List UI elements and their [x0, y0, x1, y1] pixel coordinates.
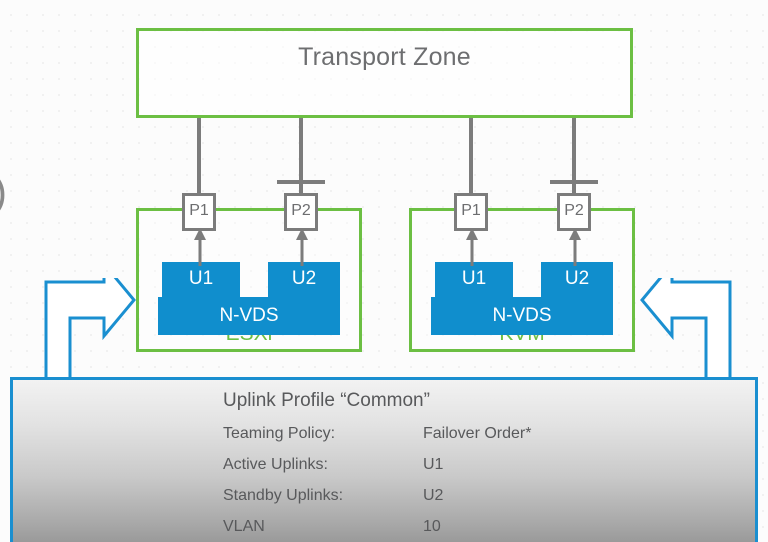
- nvds-label-kvm: N-VDS: [431, 305, 613, 327]
- nvds-uplink-tab-esxi-u1[interactable]: U1: [162, 262, 240, 298]
- port-box-esxi-p1[interactable]: P1: [182, 193, 216, 231]
- port-box-esxi-p2[interactable]: P2: [284, 193, 318, 231]
- drop-line-kvm-p1: [469, 118, 473, 200]
- nvds-esxi[interactable]: N-VDS U1 U2: [158, 262, 340, 335]
- right-callout-arrow: [638, 278, 734, 380]
- nvds-uplink-label-esxi-u1: U1: [162, 268, 240, 290]
- uplink-profile-panel[interactable]: Uplink Profile “Common” Teaming Policy: …: [10, 377, 758, 542]
- diagram-canvas: ) Transport Zone ESXi P1 P2 N-VDS U1 U2: [0, 0, 768, 542]
- nvds-uplink-label-kvm-u1: U1: [435, 268, 513, 290]
- row-value-teaming-policy: Failover Order*: [423, 425, 531, 443]
- port-label-kvm-p1: P1: [457, 202, 485, 220]
- nvds-uplink-tab-kvm-u1[interactable]: U1: [435, 262, 513, 298]
- row-key-active-uplinks: Active Uplinks:: [223, 456, 328, 474]
- row-value-standby-uplinks: U2: [423, 487, 443, 505]
- nvds-uplink-label-esxi-u2: U2: [268, 268, 340, 290]
- row-key-vlan: VLAN: [223, 518, 265, 536]
- nvds-label-esxi: N-VDS: [158, 305, 340, 327]
- drop-line-esxi-p1: [197, 118, 201, 200]
- link-break-bar-kvm-p2: [550, 180, 598, 184]
- drop-line-esxi-p2: [299, 118, 303, 200]
- row-key-teaming-policy: Teaming Policy:: [223, 425, 335, 443]
- port-label-esxi-p1: P1: [185, 202, 213, 220]
- port-box-kvm-p1[interactable]: P1: [454, 193, 488, 231]
- nvds-uplink-tab-esxi-u2[interactable]: U2: [268, 262, 340, 298]
- nvds-uplink-label-kvm-u2: U2: [541, 268, 613, 290]
- port-label-esxi-p2: P2: [287, 202, 315, 220]
- link-break-bar-esxi-p2: [277, 180, 325, 184]
- uplink-arrow-esxi-u1: [192, 228, 208, 266]
- nvds-kvm[interactable]: N-VDS U1 U2: [431, 262, 613, 335]
- row-value-active-uplinks: U1: [423, 456, 443, 474]
- stray-parenthesis-glyph: ): [0, 168, 7, 216]
- row-key-standby-uplinks: Standby Uplinks:: [223, 487, 343, 505]
- uplink-arrow-kvm-u2: [567, 228, 583, 266]
- nvds-uplink-tab-kvm-u2[interactable]: U2: [541, 262, 613, 298]
- transport-zone-label: Transport Zone: [139, 43, 630, 72]
- row-value-vlan: 10: [423, 518, 441, 536]
- uplink-profile-title: Uplink Profile “Common”: [223, 390, 430, 412]
- drop-line-kvm-p2: [572, 118, 576, 200]
- nvds-base-kvm: N-VDS: [431, 297, 613, 335]
- nvds-base-esxi: N-VDS: [158, 297, 340, 335]
- left-callout-arrow: [42, 278, 138, 380]
- port-label-kvm-p2: P2: [560, 202, 588, 220]
- transport-zone-box[interactable]: Transport Zone: [136, 28, 633, 118]
- uplink-arrow-kvm-u1: [464, 228, 480, 266]
- uplink-arrow-esxi-u2: [294, 228, 310, 266]
- port-box-kvm-p2[interactable]: P2: [557, 193, 591, 231]
